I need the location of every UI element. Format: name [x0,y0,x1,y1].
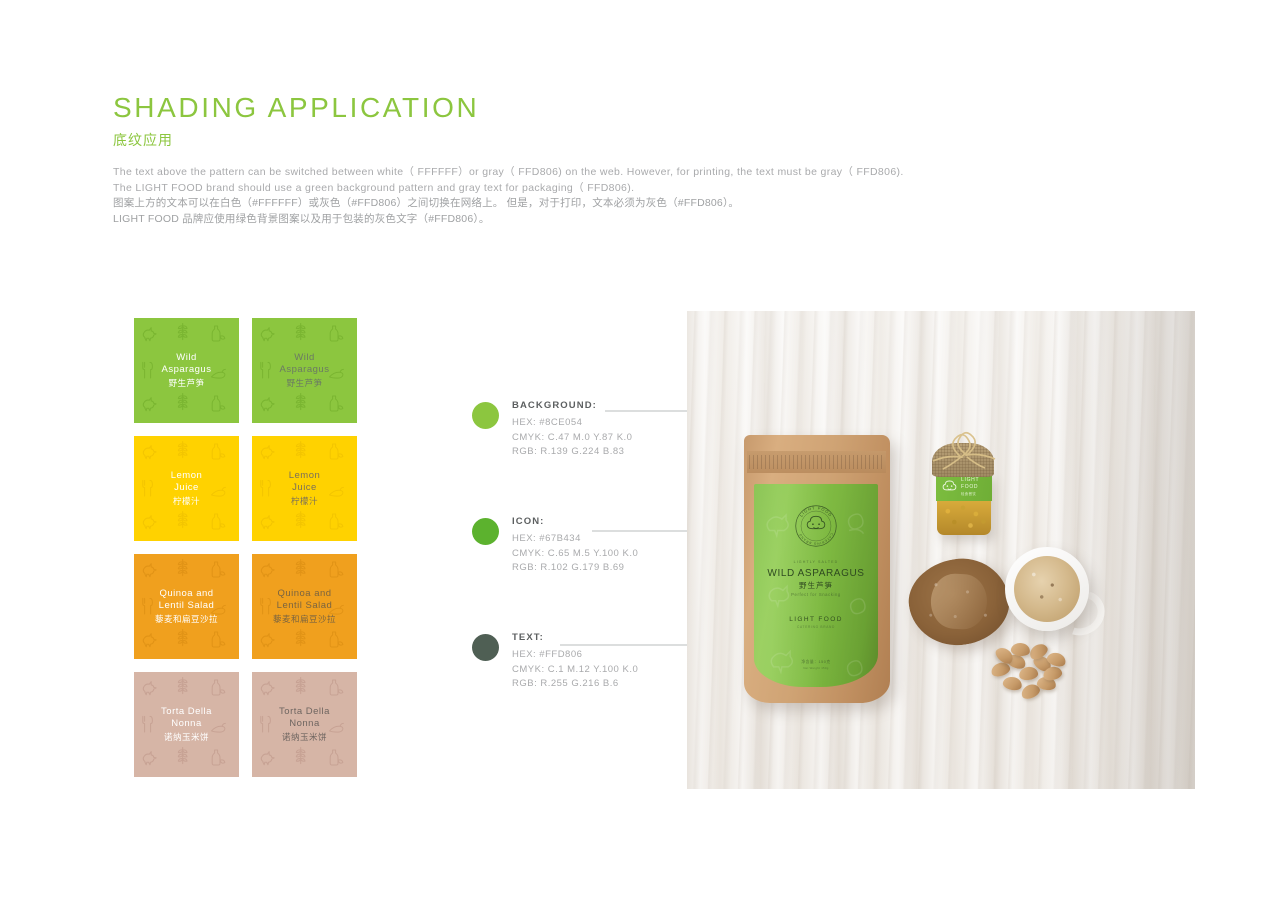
tile-label: Torta DellaNonna诺纳玉米饼 [134,706,239,744]
tile-name-en-line2: Nonna [134,718,239,730]
svg-text:LIGHT FOOD: LIGHT FOOD [799,505,834,517]
bottle-icon [212,396,225,411]
chicken-icon [261,634,274,647]
tile-name-en-line2: Juice [252,482,357,494]
pouch-brand-sub: CATERING BRAND [754,625,878,629]
asparagus-icon [178,441,187,457]
tile-name-en-line2: Asparagus [134,364,239,376]
asparagus-icon [296,441,305,457]
pouch-brand-seal: LIGHT FOOD CATERING BRAND [794,504,838,548]
jar-seeds [937,501,991,535]
bottle-icon [212,444,225,459]
pattern-swatch-grid: WildAsparagus野生芦笋WildAsparagus野生芦笋LemonJ… [134,318,357,777]
asparagus-icon [296,677,305,693]
asparagus-icon [178,393,187,409]
tile-name-en-line1: Quinoa and [252,588,357,600]
bottle-icon [330,632,343,647]
asparagus-icon [296,559,305,575]
bottle-icon [212,326,225,341]
description-block: The text above the pattern can be switch… [113,165,1073,227]
asparagus-icon [178,559,187,575]
tile-name-en-line1: Wild [134,352,239,364]
seed-jar: LIGHT FOOD 轻食餐饮 [927,431,999,541]
pattern-tile[interactable]: WildAsparagus野生芦笋 [134,318,239,423]
pouch-top-seal [747,451,886,473]
seal-top-text: LIGHT FOOD [799,505,834,517]
pattern-tile[interactable]: LemonJuice柠檬汁 [134,436,239,541]
jar-label: LIGHT FOOD 轻食餐饮 [936,473,992,501]
pouch-product-name: WILD ASPARAGUS [754,568,878,579]
chicken-icon [261,682,274,695]
page-subtitle: 底纹应用 [113,130,479,150]
pattern-tile[interactable]: Quinoa andLentil Salad藜麦和扁豆沙拉 [252,554,357,659]
page-title: SHADING APPLICATION [113,93,479,124]
pouch-kicker: LIGHTLY SALTED [754,560,878,564]
tile-name-en-line2: Asparagus [252,364,357,376]
asparagus-icon [296,747,305,763]
almond-pile [985,641,1065,703]
pouch-weight: 净含量：150克 [754,660,878,665]
bottle-icon [330,514,343,529]
color-swatch-dot [472,634,499,661]
chicken-icon [261,752,274,765]
pouch-tagline: Perfect for Snacking [754,592,878,597]
asparagus-icon [178,629,187,645]
asparagus-icon [296,323,305,339]
asparagus-icon [178,323,187,339]
bottle-icon [330,396,343,411]
tile-name-cn: 诺纳玉米饼 [134,731,239,743]
jar-brand-line2: FOOD [961,484,979,491]
jar-brand-text: LIGHT FOOD [961,477,979,490]
pouch-product-name-cn: 野生芦笋 [754,580,878,591]
chicken-icon [143,446,156,459]
pattern-tile[interactable]: Torta DellaNonna诺纳玉米饼 [134,672,239,777]
tile-name-en-line1: Torta Della [134,706,239,718]
pouch-weight-sub: Net Weight 150g [754,666,878,670]
jar-brand-cn: 轻食餐饮 [961,491,976,496]
bottle-icon [330,326,343,341]
tile-label: LemonJuice柠檬汁 [252,470,357,508]
jar-raffia-bow [925,431,1003,473]
pouch-brand: LIGHT FOOD [754,616,878,623]
tile-name-en-line2: Juice [134,482,239,494]
bottle-icon [212,632,225,647]
asparagus-icon [296,393,305,409]
chicken-icon [143,634,156,647]
color-swatch-dot [472,402,499,429]
bottle-icon [212,562,225,577]
tile-name-en-line1: Torta Della [252,706,357,718]
chicken-icon [143,516,156,529]
chicken-icon [143,328,156,341]
coffee-crema [1014,556,1080,622]
asparagus-pouch: LIGHT FOOD CATERING BRAND LIGHTLY SALTED… [744,435,890,703]
product-photo: LIGHT FOOD CATERING BRAND LIGHTLY SALTED… [687,311,1195,789]
pouch-green-label: LIGHT FOOD CATERING BRAND LIGHTLY SALTED… [754,484,878,687]
bottle-icon [330,444,343,459]
description-cn-line2: LIGHT FOOD 品牌应使用绿色背景图案以及用于包装的灰色文字（#FFD80… [113,212,1073,228]
chicken-icon [261,328,274,341]
description-cn-line1: 图案上方的文本可以在白色（#FFFFFF）或灰色（#FFD806）之间切换在网络… [113,196,1073,212]
tile-label: Quinoa andLentil Salad藜麦和扁豆沙拉 [252,588,357,626]
bottle-icon [330,750,343,765]
tile-name-en-line2: Nonna [252,718,357,730]
bottle-icon [330,562,343,577]
tile-name-cn: 柠檬汁 [252,495,357,507]
bottle-icon [212,514,225,529]
chicken-icon [261,516,274,529]
tile-name-cn: 藜麦和扁豆沙拉 [134,613,239,625]
tile-label: WildAsparagus野生芦笋 [134,352,239,390]
coffee-cup [1005,547,1089,631]
tile-name-cn: 藜麦和扁豆沙拉 [252,613,357,625]
asparagus-icon [178,677,187,693]
chicken-icon [261,398,274,411]
asparagus-icon [296,511,305,527]
chicken-icon [143,682,156,695]
description-en-line1: The text above the pattern can be switch… [113,165,1073,181]
tile-label: Torta DellaNonna诺纳玉米饼 [252,706,357,744]
chicken-icon [261,564,274,577]
color-swatch-dot [472,518,499,545]
tile-name-en-line1: Lemon [252,470,357,482]
tile-label: WildAsparagus野生芦笋 [252,352,357,390]
bottle-icon [330,680,343,695]
page-header: SHADING APPLICATION 底纹应用 [113,93,479,150]
chicken-icon [143,564,156,577]
tile-name-en-line1: Wild [252,352,357,364]
pattern-tile[interactable]: Quinoa andLentil Salad藜麦和扁豆沙拉 [134,554,239,659]
jar-mascot-icon [941,478,958,495]
bottle-icon [212,750,225,765]
jar-brand-line1: LIGHT [961,477,979,484]
bottle-icon [212,680,225,695]
tile-name-en-line2: Lentil Salad [134,600,239,612]
description-en-line2: The LIGHT FOOD brand should use a green … [113,181,1073,197]
tile-name-cn: 诺纳玉米饼 [252,731,357,743]
tile-label: LemonJuice柠檬汁 [134,470,239,508]
tile-label: Quinoa andLentil Salad藜麦和扁豆沙拉 [134,588,239,626]
tile-name-en-line2: Lentil Salad [252,600,357,612]
pattern-tile[interactable]: LemonJuice柠檬汁 [252,436,357,541]
asparagus-icon [296,629,305,645]
tile-name-en-line1: Quinoa and [134,588,239,600]
chicken-icon [143,398,156,411]
pattern-tile[interactable]: Torta DellaNonna诺纳玉米饼 [252,672,357,777]
tile-name-en-line1: Lemon [134,470,239,482]
tile-name-cn: 野生芦笋 [252,377,357,389]
asparagus-icon [178,747,187,763]
tile-name-cn: 柠檬汁 [134,495,239,507]
chicken-icon [261,446,274,459]
brand-guideline-page: SHADING APPLICATION 底纹应用 The text above … [0,0,1280,905]
chicken-icon [143,752,156,765]
pattern-tile[interactable]: WildAsparagus野生芦笋 [252,318,357,423]
tile-name-cn: 野生芦笋 [134,377,239,389]
asparagus-icon [178,511,187,527]
